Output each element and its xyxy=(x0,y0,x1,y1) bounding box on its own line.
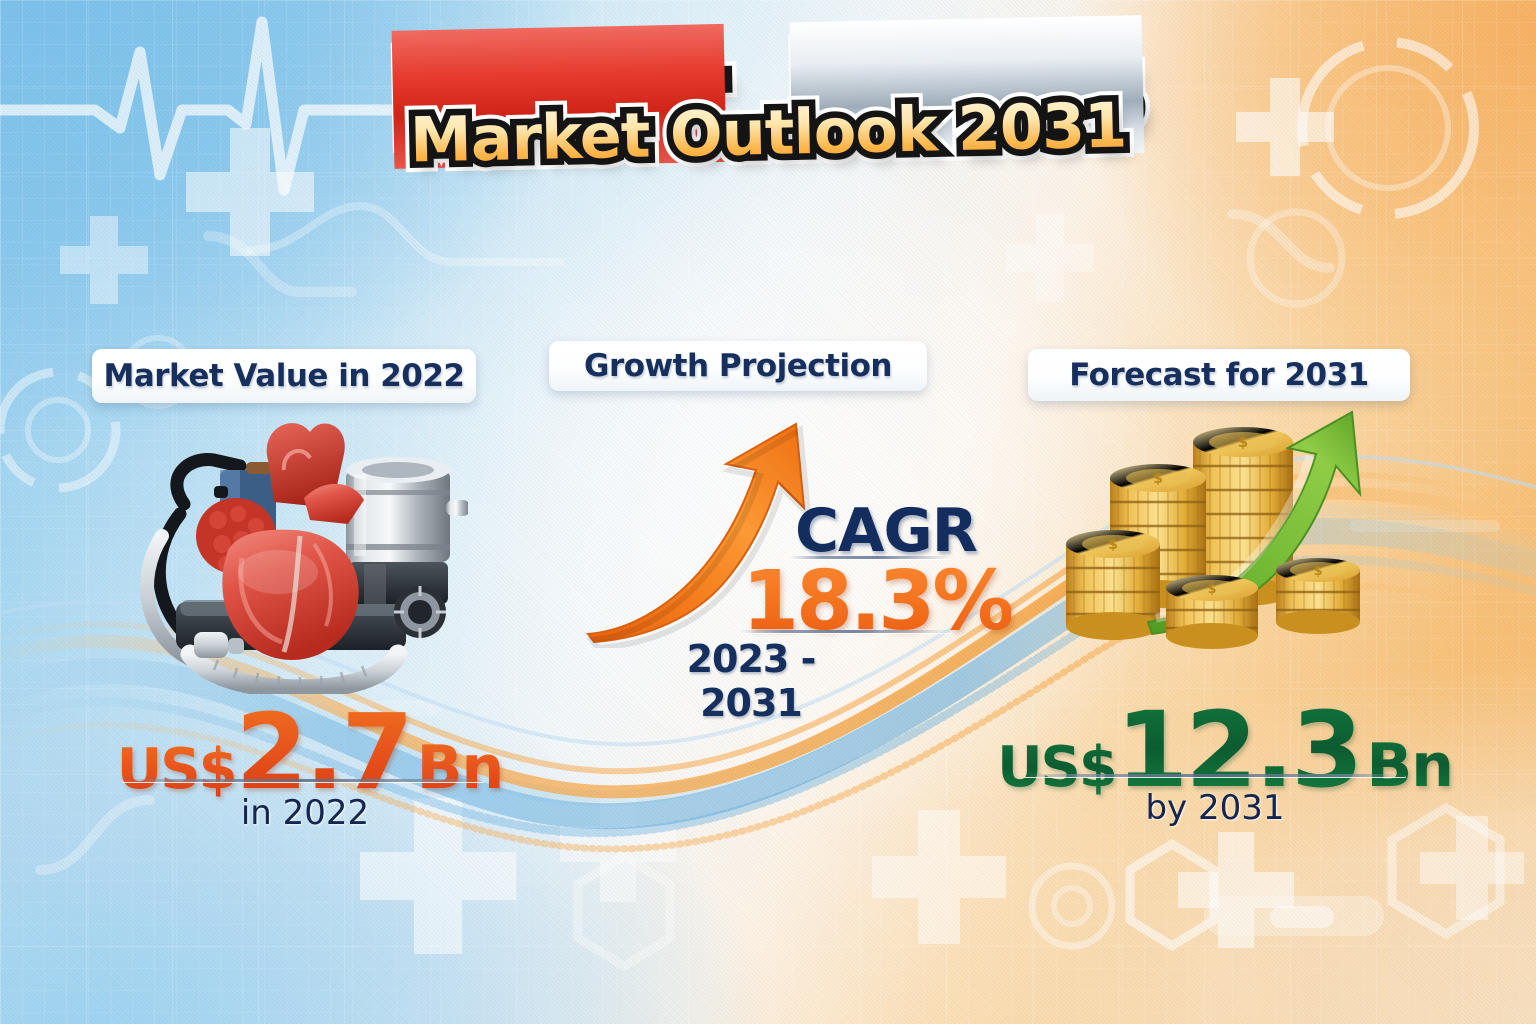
gold-coins-green-arrow-illustration: $ $ xyxy=(1048,404,1408,666)
forecast-2031-amount: US$ 12.3 Bn xyxy=(1015,698,1435,802)
ecg-heartbeat-icon-faint xyxy=(250,206,560,262)
panel-header-growth-projection: Growth Projection xyxy=(549,341,927,391)
svg-text:$: $ xyxy=(1313,564,1322,579)
svg-text:$: $ xyxy=(1153,471,1163,487)
value-caption-right: by 2031 xyxy=(1015,788,1415,828)
cagr-period-range: 2023 - 2031 xyxy=(636,637,866,725)
coin-stack-front-left: $ xyxy=(1066,530,1160,640)
svg-text:$: $ xyxy=(1207,582,1216,597)
value-caption-left: in 2022 xyxy=(110,793,500,833)
subtitle-fill: Market Outlook 2031 xyxy=(409,88,1127,176)
value-divider-right xyxy=(1024,774,1406,777)
value-number-left: 2.7 xyxy=(236,700,411,804)
cagr-divider-bottom xyxy=(740,630,952,633)
coin-stack-front-right: $ xyxy=(1276,558,1360,634)
coin-stack-front-center: $ xyxy=(1166,575,1258,649)
panel-header-market-value-2022: Market Value in 2022 xyxy=(92,349,476,403)
svg-text:$: $ xyxy=(1238,433,1248,451)
heart-pump-device-illustration xyxy=(118,404,468,694)
cagr-value: 18.3% xyxy=(742,554,1011,649)
panel-header-forecast-2031: Forecast for 2031 xyxy=(1028,349,1410,401)
title-block: Heart Heart Heart Pumps Pumps Pumps Mark… xyxy=(0,38,1536,150)
value-number-right: 12.3 xyxy=(1116,698,1361,802)
subtitle: Market Outlook 2031 Market Outlook 2031 … xyxy=(410,125,1126,140)
infographic-canvas: Heart Heart Heart Pumps Pumps Pumps Mark… xyxy=(0,0,1536,1024)
market-value-2022-amount: US$ 2.7 Bn xyxy=(110,700,510,804)
value-divider-left xyxy=(122,779,484,782)
svg-text:$: $ xyxy=(1108,537,1118,553)
